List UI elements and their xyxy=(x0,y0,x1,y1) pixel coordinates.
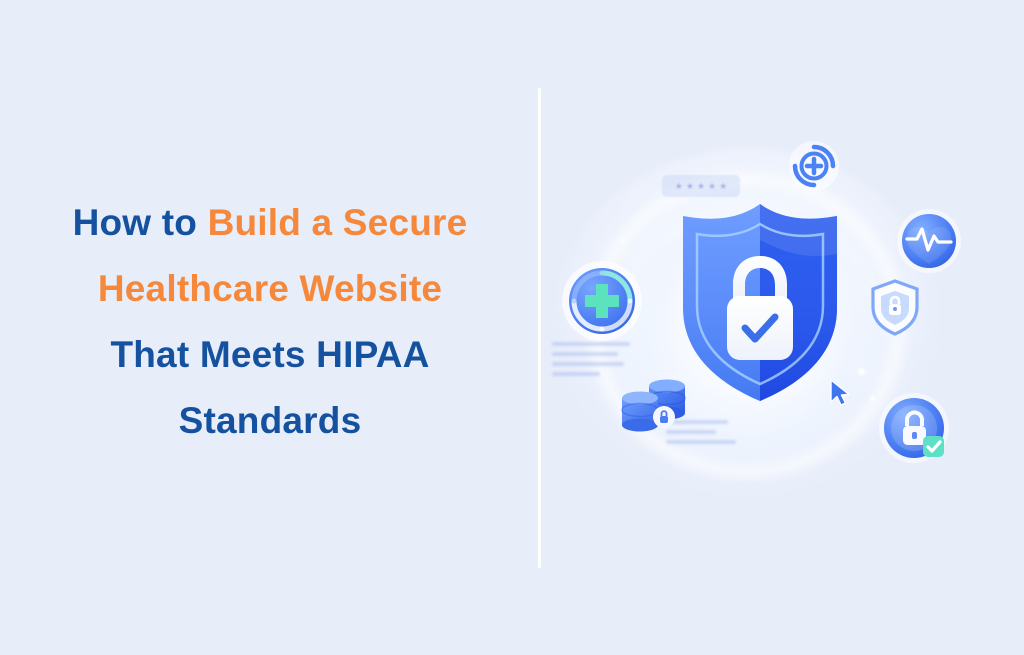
headline-line-4: Standards xyxy=(60,388,480,454)
headline-segment-accent: Build a Secure xyxy=(208,202,468,243)
shield-lock-icon xyxy=(665,200,855,405)
placeholder-line xyxy=(552,372,600,376)
rating-stars-chip: ★ ★ ★ ★ ★ xyxy=(662,175,740,197)
placeholder-line xyxy=(552,362,624,366)
medical-cross-badge-icon xyxy=(558,257,646,345)
database-stack-icon xyxy=(618,378,692,436)
page-title: How to Build a Secure Healthcare Website… xyxy=(60,190,480,454)
headline-line-3: That Meets HIPAA xyxy=(60,322,480,388)
mini-shield-lock-icon xyxy=(868,278,922,336)
headline-line-2: Healthcare Website xyxy=(60,256,480,322)
star-icon: ★ xyxy=(675,182,683,191)
star-icon: ★ xyxy=(686,182,694,191)
banner-root: How to Build a Secure Healthcare Website… xyxy=(0,0,1024,655)
star-icon: ★ xyxy=(708,182,716,191)
headline-segment-plain: How to xyxy=(73,202,208,243)
sparkle-dot xyxy=(858,368,865,375)
star-icon: ★ xyxy=(697,182,705,191)
heartbeat-pulse-icon xyxy=(896,208,962,274)
placeholder-text-lines-left xyxy=(552,342,632,382)
cursor-pointer-icon xyxy=(828,378,854,408)
security-illustration: ★ ★ ★ ★ ★ xyxy=(540,120,970,520)
refresh-plus-icon xyxy=(788,140,840,192)
placeholder-line xyxy=(666,440,736,444)
lock-verified-icon xyxy=(878,392,950,464)
sparkle-dot xyxy=(870,396,875,401)
sparkle-dot xyxy=(620,238,625,243)
headline-line-1: How to Build a Secure xyxy=(60,190,480,256)
placeholder-line xyxy=(552,352,618,356)
star-icon: ★ xyxy=(719,182,727,191)
